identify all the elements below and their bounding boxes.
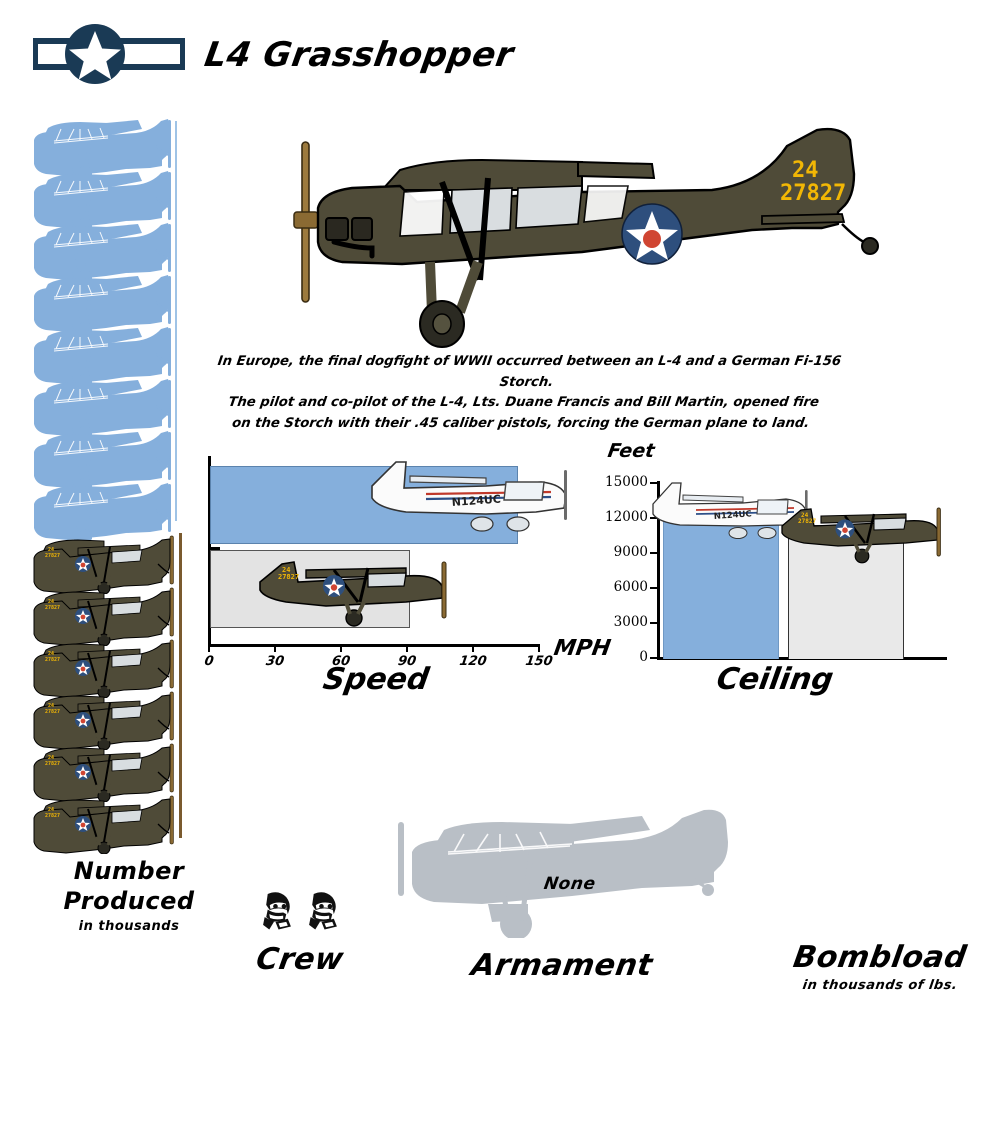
propeller [294, 142, 318, 302]
number-produced-pictogram: 2427827242782724278272427827242782724278… [28, 116, 188, 846]
header: L4 Grasshopper [0, 0, 1000, 110]
speed-tick-90 [406, 644, 408, 652]
ceiling-chart: Feet 15000 12000 9000 6000 3000 0 N124UC [600, 440, 950, 670]
speed-tick-30 [274, 644, 276, 652]
bombload-subtitle: in thousands of lbs. [759, 978, 1000, 993]
ceiling-ticklabel-6000: 6000 [614, 579, 648, 595]
ceiling-ticklabel-15000: 15000 [605, 474, 648, 490]
description-line-1: In Europe, the final dogfight of WWII oc… [200, 352, 856, 393]
page-title-text: L4 Grasshopper [202, 35, 517, 75]
l4-aircraft-art-speed: 24 27827 [246, 540, 458, 634]
speed-tick-60 [340, 644, 342, 652]
svg-text:27827: 27827 [798, 518, 816, 525]
armament-value: None [542, 874, 597, 894]
ceiling-ticklabel-9000: 9000 [614, 544, 648, 560]
comparison-aircraft-art: N124UC [366, 452, 576, 544]
number-produced-label-line3: in thousands [34, 916, 224, 938]
l4-aircraft-icon: 2427827 [28, 792, 178, 854]
armament-title: Armament [389, 948, 735, 983]
number-produced-label-line2: Produced [34, 886, 224, 916]
bombload-title: Bombload [757, 940, 1000, 975]
us-star-and-bars-roundel-icon [33, 23, 185, 85]
ceiling-chart-title: Ceiling [597, 662, 953, 697]
svg-text:27827: 27827 [45, 761, 60, 767]
ceiling-ticklabel-3000: 3000 [614, 614, 648, 630]
pictogram-blue-rule [175, 121, 177, 521]
infographic-page: L4 Grasshopper 24 27827 [0, 0, 1000, 1129]
speed-tick-150 [538, 644, 540, 652]
description-line-3: on the Storch with their .45 caliber pis… [194, 414, 847, 435]
ceiling-axis-unit: Feet [606, 440, 656, 462]
ceiling-tick-9000 [650, 552, 659, 554]
number-produced-label-line1: Number [34, 856, 224, 886]
l4-aircraft-silhouette-icon [392, 808, 732, 938]
ceiling-tick-6000 [650, 587, 659, 589]
svg-text:27827: 27827 [45, 657, 60, 663]
pictogram-olive-rule [179, 533, 182, 838]
svg-text:27827: 27827 [45, 553, 60, 559]
number-produced-label: Number Produced in thousands [34, 856, 224, 938]
svg-text:27827: 27827 [45, 813, 60, 819]
armament-block: None Armament [392, 808, 732, 983]
crew-block: Crew [210, 880, 390, 977]
speed-chart-title: Speed [193, 662, 559, 697]
description-line-2: The pilot and co-pilot of the L-4, Lts. … [197, 393, 850, 414]
crew-title: Crew [207, 942, 393, 977]
tail-code-line2: 27827 [780, 181, 846, 206]
speed-tick-0 [208, 644, 210, 652]
l4-aircraft-art-ceiling: 24 27827 [770, 490, 950, 570]
ceiling-ticklabel-12000: 12000 [605, 509, 648, 525]
tail-code-line1: 24 [792, 158, 819, 183]
svg-text:27827: 27827 [45, 605, 60, 611]
pilot-head-icon [260, 890, 294, 932]
fuselage-roundel-icon [622, 204, 682, 264]
bombload-block: Bombload in thousands of lbs. [760, 940, 1000, 993]
ceiling-tick-0 [650, 657, 659, 659]
speed-tick-120 [472, 644, 474, 652]
ceiling-tick-3000 [650, 622, 659, 624]
svg-text:27827: 27827 [278, 573, 299, 581]
description-block: In Europe, the final dogfight of WWII oc… [194, 352, 856, 434]
pilot-head-icon [306, 890, 340, 932]
page-title: L4 Grasshopper [202, 36, 516, 74]
hero-aircraft-illustration: 24 27827 [282, 112, 902, 352]
armament-silhouette-wrap: None [392, 808, 732, 938]
crew-icon-group [210, 880, 390, 932]
svg-text:27827: 27827 [45, 709, 60, 715]
speed-x-axis [208, 644, 538, 647]
speed-chart: N124UC 24 27827 0 30 60 90 [196, 448, 556, 658]
